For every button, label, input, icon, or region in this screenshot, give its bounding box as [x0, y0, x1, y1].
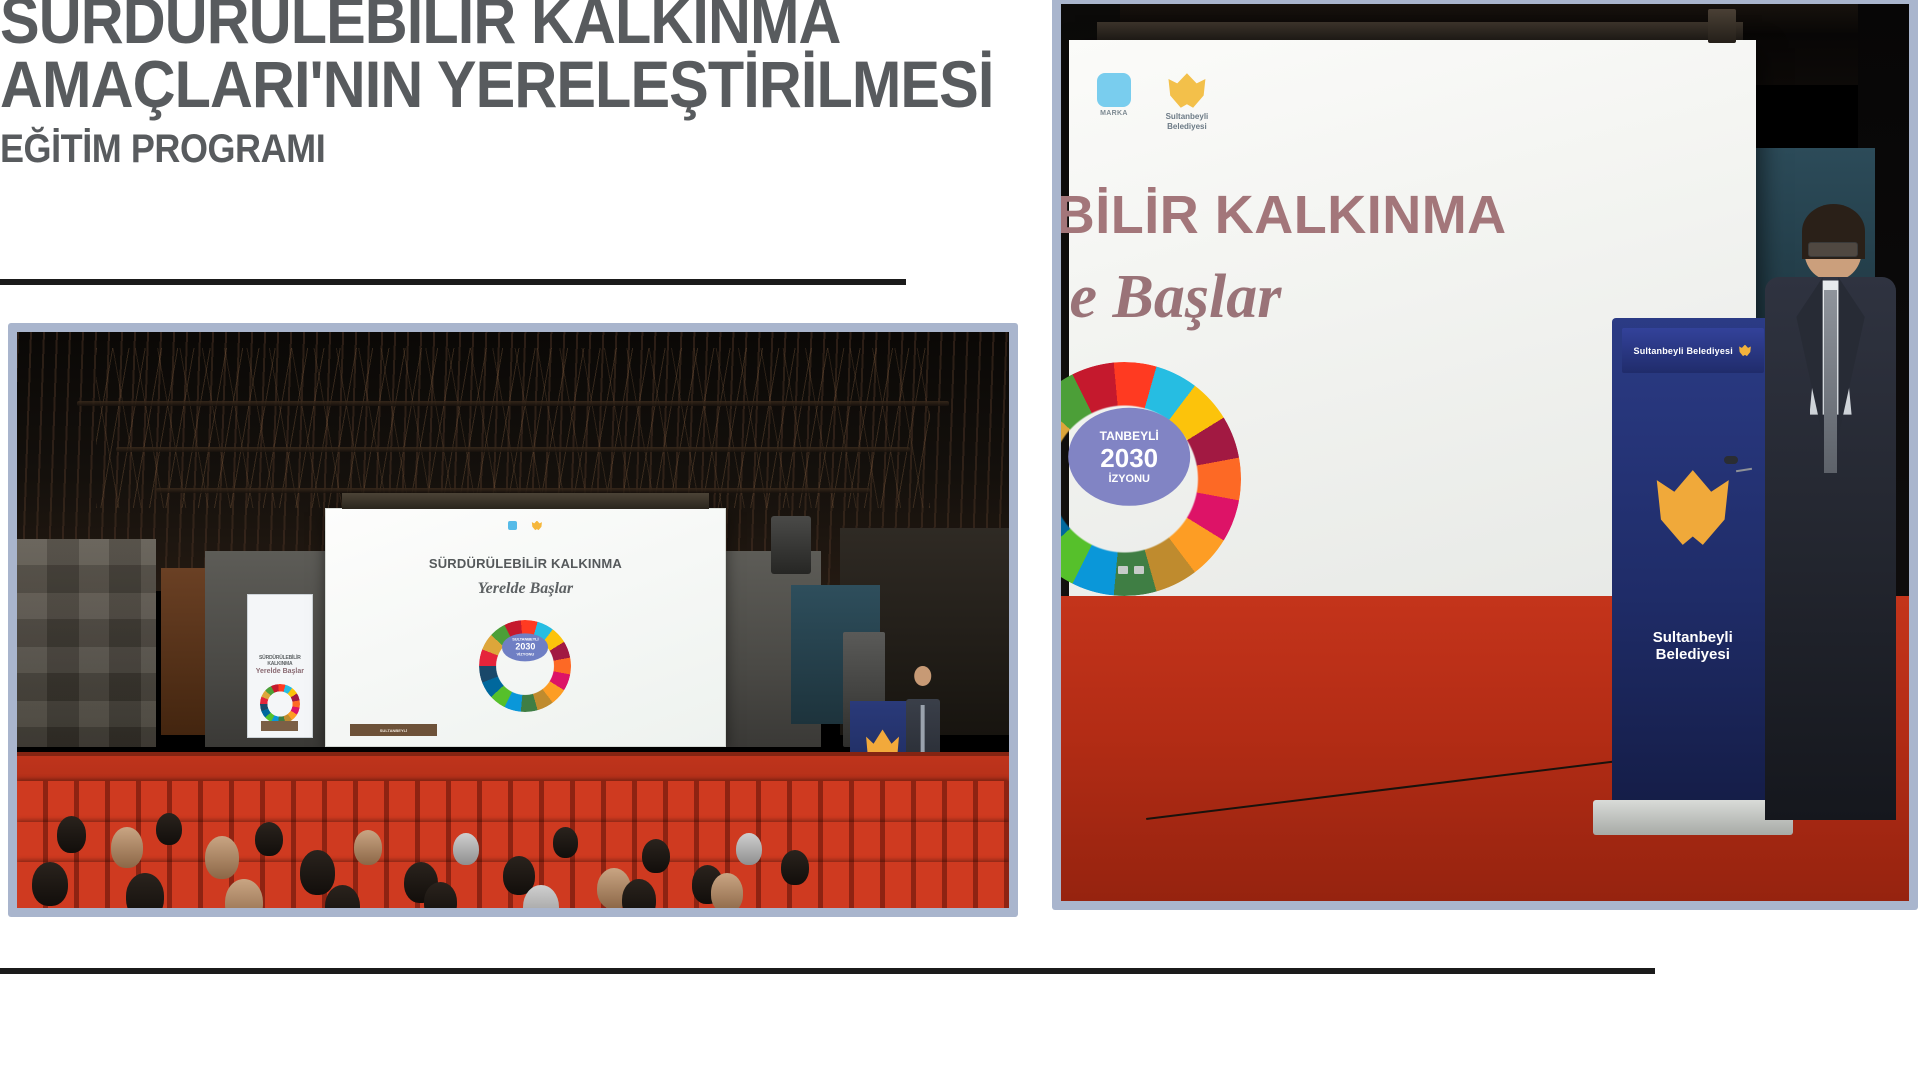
- microphone-head-icon: [1724, 456, 1738, 464]
- right-slide-title: BİLİR KALKINMA: [1061, 184, 1770, 246]
- photo-left-inner: SÜRDÜRÜLEBİLİR KALKINMA Yerelde Başlar S…: [17, 332, 1009, 908]
- audience-head: [205, 836, 239, 879]
- hub-line-3: VİZYONU: [517, 653, 535, 657]
- speaker-tie: [1824, 290, 1837, 473]
- municipality-logo-block: Sultanbeyli Belediyesi: [1165, 73, 1209, 132]
- screen-top-rail: [342, 493, 710, 508]
- audience-head: [111, 827, 143, 867]
- podium-name-line1: Sultanbeyli: [1612, 629, 1773, 646]
- stage-edge: [17, 752, 1009, 756]
- marka-logo-caption: MARKA: [1097, 110, 1131, 117]
- presenter-head: [914, 666, 932, 686]
- header-divider-rule: [0, 279, 906, 285]
- podium-nameplate: Sultanbeyli Belediyesi: [1622, 328, 1764, 373]
- slide-footer-tag: SULTANBEYLİ: [350, 724, 438, 736]
- ceiling-beam: [116, 447, 910, 452]
- osd-icon-row: [1118, 566, 1144, 574]
- subtitle-line: EĞİTİM PROGRAMI: [0, 126, 954, 172]
- ceiling-beam: [77, 401, 950, 406]
- right-screen-roller: [1708, 9, 1735, 42]
- projection-screen-left: SÜRDÜRÜLEBİLİR KALKINMA Yerelde Başlar S…: [325, 508, 727, 747]
- hub-line-2: 2030: [1100, 444, 1158, 470]
- audience-head: [711, 873, 743, 908]
- tulip-logo-icon: [531, 521, 543, 531]
- photo-right-inner: MARKA Sultanbeyli Belediyesi BİLİR KALKI…: [1061, 4, 1909, 901]
- title-line-2: AMAÇLARI'NIN YERELEŞTİRİLMESİ: [0, 52, 954, 116]
- footer-divider-rule: [0, 968, 1655, 974]
- audience-head: [736, 833, 762, 865]
- slide-logo-row: [326, 521, 726, 531]
- podium-base: [1593, 800, 1793, 835]
- tulip-logo-icon: [1165, 73, 1209, 109]
- slide-subtitle: Yerelde Başlar: [326, 580, 726, 598]
- audience-head: [32, 862, 68, 906]
- audience-head: [57, 816, 87, 853]
- right-slide-logo-row: MARKA Sultanbeyli Belediyesi: [1097, 73, 1209, 132]
- muni-caption-line1: Sultanbeyli: [1165, 112, 1209, 122]
- municipality-logo-caption: Sultanbeyli Belediyesi: [1165, 112, 1209, 132]
- speaker-person: [1765, 210, 1896, 820]
- ceiling-beam: [156, 488, 870, 493]
- right-screen-rail: [1097, 22, 1743, 40]
- podium-name-line2: Belediyesi: [1612, 646, 1773, 663]
- sdg-wheel-hub: SULTANBEYLİ 2030 VİZYONU: [502, 634, 548, 661]
- nameplate-tulip-icon: [1738, 345, 1752, 357]
- osd-icon: [1118, 566, 1128, 574]
- hub-line-1: TANBEYLİ: [1100, 429, 1159, 441]
- rollup-banner: SÜRDÜRÜLEBİLİR KALKINMA Yerelde Başlar: [247, 594, 312, 738]
- audience-head: [255, 822, 283, 857]
- slide-footer-tag-text: SULTANBEYLİ: [380, 728, 407, 733]
- page-heading: SÜRDÜRÜLEBİLİR KALKINMA AMAÇLARI'NIN YER…: [0, 0, 1060, 172]
- banner-subtitle: Yerelde Başlar: [256, 668, 304, 676]
- podium-tulip-icon: [1651, 469, 1735, 546]
- document-page: SÜRDÜRÜLEBİLİR KALKINMA AMAÇLARI'NIN YER…: [0, 0, 1920, 1080]
- audience-head: [642, 839, 670, 874]
- audience-head: [300, 850, 336, 895]
- presenter-tie: [920, 705, 925, 756]
- marka-logo-block: MARKA: [1097, 73, 1131, 117]
- sdg-wheel-banner: [260, 684, 299, 723]
- hub-line-2: 2030: [515, 643, 535, 652]
- banner-footer-bar: [261, 721, 298, 731]
- audience-head: [354, 830, 382, 865]
- title-line-1: SÜRDÜRÜLEBİLİR KALKINMA: [0, 0, 954, 52]
- photo-left-auditorium: SÜRDÜRÜLEBİLİR KALKINMA Yerelde Başlar S…: [8, 323, 1018, 917]
- marka-logo-icon: [508, 521, 517, 530]
- osd-icon: [1134, 566, 1144, 574]
- banner-title: SÜRDÜRÜLEBİLİR KALKINMA: [248, 655, 311, 667]
- slide-title: SÜRDÜRÜLEBİLİR KALKINMA: [326, 556, 726, 571]
- muni-caption-line2: Belediyesi: [1165, 122, 1209, 132]
- audience-head: [781, 850, 809, 885]
- audience-head: [553, 827, 579, 858]
- auditorium-wall-left: [17, 539, 156, 746]
- wall-speaker: [771, 516, 811, 574]
- hub-line-3: İZYONU: [1108, 473, 1150, 484]
- podium-nameplate-text: Sultanbeyli Belediyesi: [1634, 346, 1733, 356]
- podium-right: Sultanbeyli Belediyesi Sultanbeyli Beled…: [1612, 318, 1773, 820]
- photo-right-speaker: MARKA Sultanbeyli Belediyesi BİLİR KALKI…: [1052, 0, 1918, 910]
- audience-head: [453, 833, 479, 865]
- glasses-icon: [1808, 242, 1858, 257]
- microphone-stem: [1736, 467, 1752, 471]
- podium-name-label: Sultanbeyli Belediyesi: [1612, 629, 1773, 663]
- audience-head: [156, 813, 182, 845]
- marka-logo-icon: [1097, 73, 1131, 107]
- audience-head: [126, 873, 164, 908]
- sdg-wheel-hub-right: TANBEYLİ 2030 İZYONU: [1068, 408, 1190, 506]
